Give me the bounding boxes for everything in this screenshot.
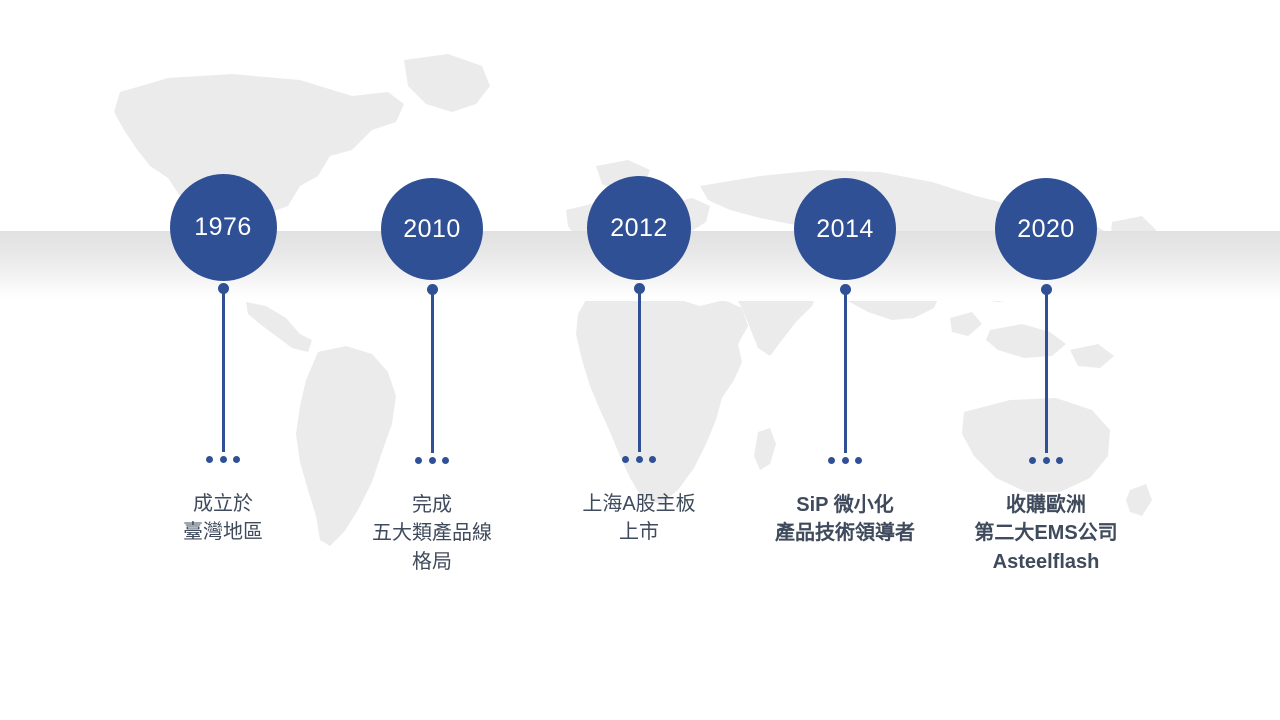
dot xyxy=(649,456,656,463)
timeline-container: 1976 成立於 臺灣地區 2010 xyxy=(0,0,1280,720)
caption-line: 格局 xyxy=(302,548,562,576)
year-label: 2020 xyxy=(1017,217,1075,242)
dot-row xyxy=(828,457,862,464)
milestone-2010: 2010 完成 五大類產品線 格局 xyxy=(322,0,542,720)
dot-row xyxy=(1029,457,1063,464)
year-label: 2014 xyxy=(816,217,874,242)
milestone-2020: 2020 收購歐洲 第二大EMS公司 Asteelflash xyxy=(936,0,1156,720)
year-circle-1976[interactable]: 1976 xyxy=(170,174,277,281)
milestone-2012: 2012 上海A股主板 上市 xyxy=(529,0,749,720)
dot xyxy=(1043,457,1050,464)
stem-line xyxy=(431,289,434,453)
dot xyxy=(1029,457,1036,464)
dot xyxy=(206,456,213,463)
stem-line xyxy=(638,288,641,452)
year-circle-2020[interactable]: 2020 xyxy=(995,178,1097,280)
milestone-caption-2020: 收購歐洲 第二大EMS公司 Asteelflash xyxy=(916,491,1176,576)
caption-line: 第二大EMS公司 xyxy=(916,519,1176,547)
year-circle-2010[interactable]: 2010 xyxy=(381,178,483,280)
dot xyxy=(855,457,862,464)
dot-row xyxy=(415,457,449,464)
milestone-1976: 1976 成立於 臺灣地區 xyxy=(113,0,333,720)
dot xyxy=(220,456,227,463)
timeline-slide: 1976 成立於 臺灣地區 2010 xyxy=(0,0,1280,720)
dot xyxy=(415,457,422,464)
dot xyxy=(636,456,643,463)
dot-row xyxy=(206,456,240,463)
stem-line xyxy=(222,288,225,452)
year-label: 2010 xyxy=(403,217,461,242)
dot xyxy=(622,456,629,463)
dot xyxy=(442,457,449,464)
dot xyxy=(1056,457,1063,464)
dot xyxy=(842,457,849,464)
stem-line xyxy=(844,289,847,453)
milestone-2014: 2014 SiP 微小化 產品技術領導者 xyxy=(735,0,955,720)
caption-line: Asteelflash xyxy=(916,548,1176,576)
dot xyxy=(233,456,240,463)
dot-row xyxy=(622,456,656,463)
caption-line: 收購歐洲 xyxy=(916,491,1176,519)
year-circle-2014[interactable]: 2014 xyxy=(794,178,896,280)
dot xyxy=(828,457,835,464)
year-label: 1976 xyxy=(194,215,252,240)
year-circle-2012[interactable]: 2012 xyxy=(587,176,691,280)
dot xyxy=(429,457,436,464)
stem-line xyxy=(1045,289,1048,453)
year-label: 2012 xyxy=(610,216,668,241)
